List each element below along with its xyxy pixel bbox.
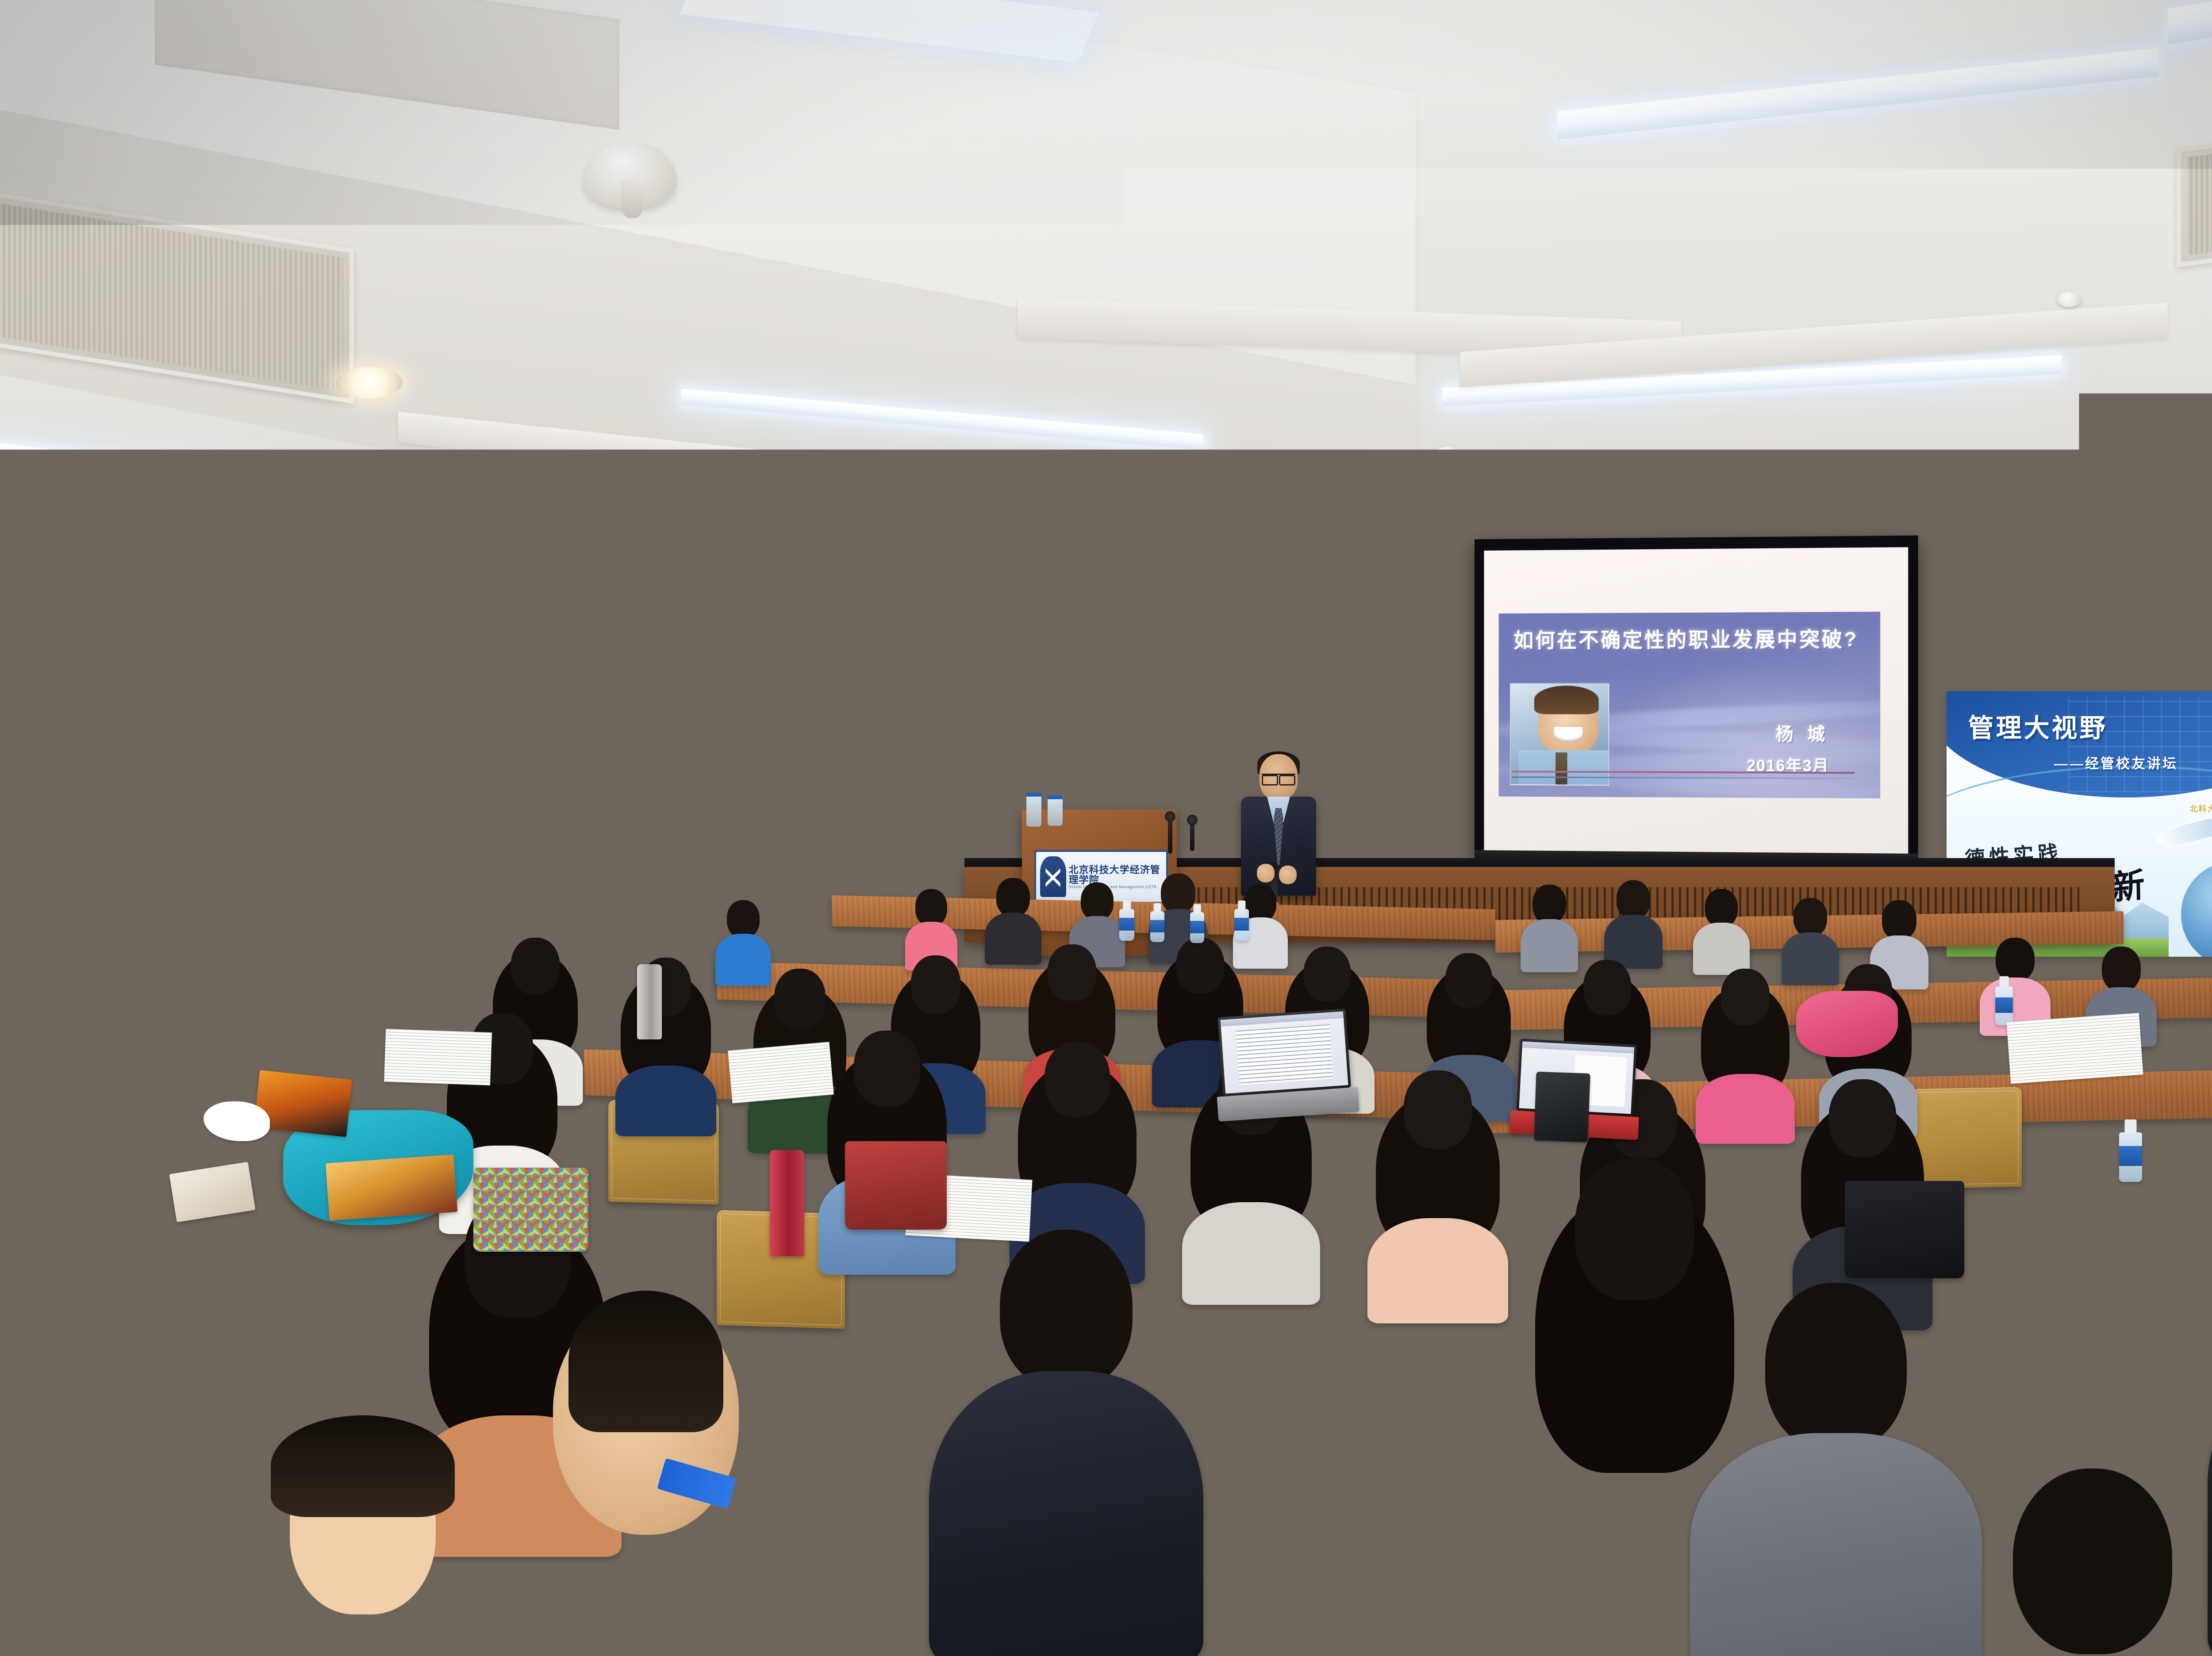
wood-wall-panel-mid [615, 522, 748, 920]
tablet-device[interactable] [1534, 1072, 1590, 1142]
chair-9[interactable] [1911, 1087, 2022, 1188]
audience-head [1793, 898, 1827, 937]
projector-right-body: EPSON [2064, 542, 2192, 577]
window-curtain-mid [542, 513, 617, 920]
presentation-slide: 如何在不确定性的职业发展中突破? 杨 城 2016年3月 [1498, 612, 1880, 798]
audience-head [2102, 947, 2141, 992]
audience-person-m4 [624, 958, 708, 1099]
audience-head [280, 907, 326, 960]
audience-head [1583, 960, 1631, 1016]
audience-person-b7 [1606, 880, 1661, 962]
audience-hair [271, 1415, 455, 1517]
audience-head [911, 955, 960, 1014]
audience-head [1705, 889, 1738, 927]
audience-head [1882, 900, 1916, 940]
audience-person-b8 [1694, 889, 1748, 969]
audience-head [92, 827, 130, 870]
projector-left-body: EPSON [1115, 549, 1261, 590]
water-bottle-3[interactable] [1190, 912, 1204, 943]
presenter-right-hand [1279, 866, 1297, 884]
audience-head [643, 907, 676, 945]
slide-photo-tie [1555, 752, 1567, 785]
laptop-lenovo[interactable] [1217, 1008, 1353, 1121]
audience-head [396, 924, 443, 979]
thermos-teal[interactable] [82, 984, 109, 1057]
projector-right-mount [2106, 507, 2150, 540]
audience-head [1304, 947, 1351, 1001]
presenter-left-hand [1257, 864, 1275, 882]
window-curtain-left [0, 480, 314, 944]
wall-speaker-left [478, 562, 536, 642]
thermos-silver[interactable] [637, 964, 662, 1039]
thermos-black[interactable] [177, 1013, 204, 1084]
slide-presenter-name: 杨 城 [1775, 720, 1829, 746]
water-bottle-4[interactable] [1234, 909, 1249, 941]
banner-title: 管理大视野 [1968, 707, 2108, 744]
ac-vent-grille-right [2187, 121, 2212, 256]
audience-person-fg-darkhair [0, 1256, 97, 1566]
slide-title: 如何在不确定性的职业发展中突破? [1513, 623, 1858, 653]
audience-head [1161, 874, 1195, 913]
slide-stock-photo [1510, 683, 1609, 786]
audience-torso [175, 879, 241, 939]
audience-torso [615, 1066, 716, 1136]
laptop-lid [1217, 1008, 1351, 1096]
audience-person-b6 [1522, 885, 1577, 965]
laptop-document-content [1236, 1024, 1333, 1085]
audience-torso [1696, 1074, 1795, 1144]
audience-torso [1182, 1202, 1320, 1305]
audience-head [1996, 938, 2035, 982]
projector-right-vent [2154, 550, 2185, 569]
audience-torso [1693, 923, 1750, 975]
projector-left-mount [1163, 509, 1213, 547]
snack-bag-1[interactable] [326, 1154, 457, 1221]
paper-handout-4[interactable] [384, 1029, 492, 1085]
paper-handout-3[interactable] [2006, 1013, 2143, 1084]
audience-head [727, 900, 760, 938]
audience-head [189, 840, 227, 884]
audience-head [1081, 882, 1114, 920]
podium-microphone-2[interactable] [1190, 822, 1194, 851]
paper-handout-1[interactable] [728, 1042, 834, 1104]
audience-torso-dark-suit [929, 1371, 1203, 1656]
audience-head [915, 889, 947, 926]
audience-head [1404, 1070, 1472, 1149]
audience-person-b11 [1982, 938, 2048, 1031]
presenter-glasses-icon [1262, 774, 1295, 784]
projector-right: EPSON [2064, 509, 2192, 588]
audience-person-n5 [1380, 1070, 1495, 1269]
presenter-tie [1274, 808, 1283, 865]
banner-globe-graphic [2181, 861, 2212, 957]
tissue-crumpled-1 [204, 1101, 270, 1141]
audience-head [511, 938, 560, 994]
projector-left-vent [1217, 558, 1252, 581]
projector-left-pole [1183, 458, 1193, 515]
laptop-document-content [0, 1069, 87, 1132]
projection-screen-surface: 如何在不确定性的职业发展中突破? 杨 城 2016年3月 [1484, 547, 1908, 854]
smoke-detector-2 [1433, 447, 1461, 464]
audience-head [1532, 885, 1566, 924]
audience-head [854, 1031, 920, 1107]
ceiling-light-strip-5 [1557, 48, 2159, 140]
backpack-black[interactable] [53, 1146, 164, 1247]
audience-head [1045, 1042, 1110, 1117]
audience-head [1244, 885, 1276, 922]
audience-person-fg-suit [964, 1230, 1168, 1654]
podium-water-bottle-2[interactable] [1048, 795, 1063, 826]
audience-torso [77, 866, 144, 926]
audience-torso-grey-shirt [1690, 1433, 1982, 1656]
chair-2[interactable] [128, 1280, 274, 1414]
banner-wechat-label: 北科大经管校友官方微信 [2190, 803, 2212, 814]
audience-head [1617, 880, 1650, 919]
pink-jacket-draped [1796, 991, 1898, 1057]
laptop-screen [1221, 1012, 1348, 1094]
presenter-speaker [1237, 754, 1321, 896]
audience-hair [568, 1291, 723, 1432]
projector-left-brand: EPSON [1138, 558, 1185, 572]
ceiling-ac-vent-right [2177, 109, 2212, 267]
presenter-head [1260, 754, 1298, 800]
audience-head [1765, 1283, 1907, 1451]
audience-person-fg-glasses [544, 1305, 748, 1656]
audience-head [1176, 938, 1224, 993]
smoke-detector-1 [460, 482, 488, 500]
audience-head [774, 969, 826, 1029]
audience-head [2013, 1468, 2172, 1654]
audience-head [1445, 953, 1492, 1008]
side-door[interactable] [823, 694, 903, 912]
audience-person-fg-bottom-right [1969, 1468, 2212, 1656]
water-bottle-1[interactable] [1119, 909, 1134, 941]
audience-head [996, 878, 1030, 917]
smoke-detector-3 [2057, 292, 2081, 307]
audience-person-b1 [907, 889, 956, 964]
audience-person-m10 [1429, 953, 1509, 1086]
water-bottle-2[interactable] [1150, 911, 1164, 942]
audience-person-n3 [1022, 1042, 1133, 1232]
university-logo-icon [1040, 856, 1066, 897]
bag-dark-right[interactable] [1845, 1181, 1964, 1278]
audience-person-fg-grey [1725, 1283, 1947, 1656]
audience-person-fg-bottom-left [248, 1437, 478, 1656]
audience-person-m1 [265, 907, 341, 1031]
lecture-hall-photo: EPSON EPSON 如何在不确定性的职业发展中突破? [0, 0, 2212, 1656]
projector-right-pole [2123, 456, 2133, 513]
chair-13[interactable] [1292, 1449, 1455, 1598]
projection-screen: 如何在不确定性的职业发展中突破? 杨 城 2016年3月 [1475, 536, 1918, 869]
banner-swoosh-line [1947, 766, 2212, 832]
audience-head [1575, 1159, 1694, 1300]
projector-left: EPSON [1115, 511, 1261, 595]
audience-person-m12 [1703, 969, 1787, 1107]
banner-subtitle: ——经管校友讲坛 [2054, 752, 2178, 772]
podium-water-bottle-1[interactable] [1026, 793, 1041, 827]
polka-dot-bag[interactable] [473, 1168, 588, 1252]
thermos-red[interactable] [770, 1150, 804, 1256]
window-curtain-left-edge [305, 494, 363, 930]
audience-head [1048, 944, 1096, 1001]
audience-head [1721, 969, 1770, 1025]
audience-torso [1367, 1218, 1508, 1323]
projector-right-brand: EPSON [2092, 550, 2133, 562]
podium-microphone[interactable] [1168, 818, 1172, 854]
ceiling-light-strip-6 [2168, 0, 2212, 44]
presenter-suit [1241, 797, 1316, 896]
bag-red[interactable] [845, 1141, 947, 1230]
audience-person-b15 [80, 827, 142, 924]
audience-person-b14 [717, 900, 770, 979]
slide-photo-smile [1554, 727, 1583, 741]
audience-person-b16 [177, 840, 239, 938]
ceiling-downlight [336, 367, 403, 398]
audience-long-hair [0, 1274, 106, 1522]
slide-photo-hair [1534, 686, 1598, 714]
audience-head [1000, 1230, 1133, 1389]
water-bottle-5[interactable] [1995, 986, 2013, 1025]
laptop-screen [0, 1057, 102, 1141]
audience-head [1829, 1079, 1896, 1157]
water-bottle-6[interactable] [2119, 1132, 2142, 1182]
audience-person-fg-2 [1540, 1159, 1730, 1548]
